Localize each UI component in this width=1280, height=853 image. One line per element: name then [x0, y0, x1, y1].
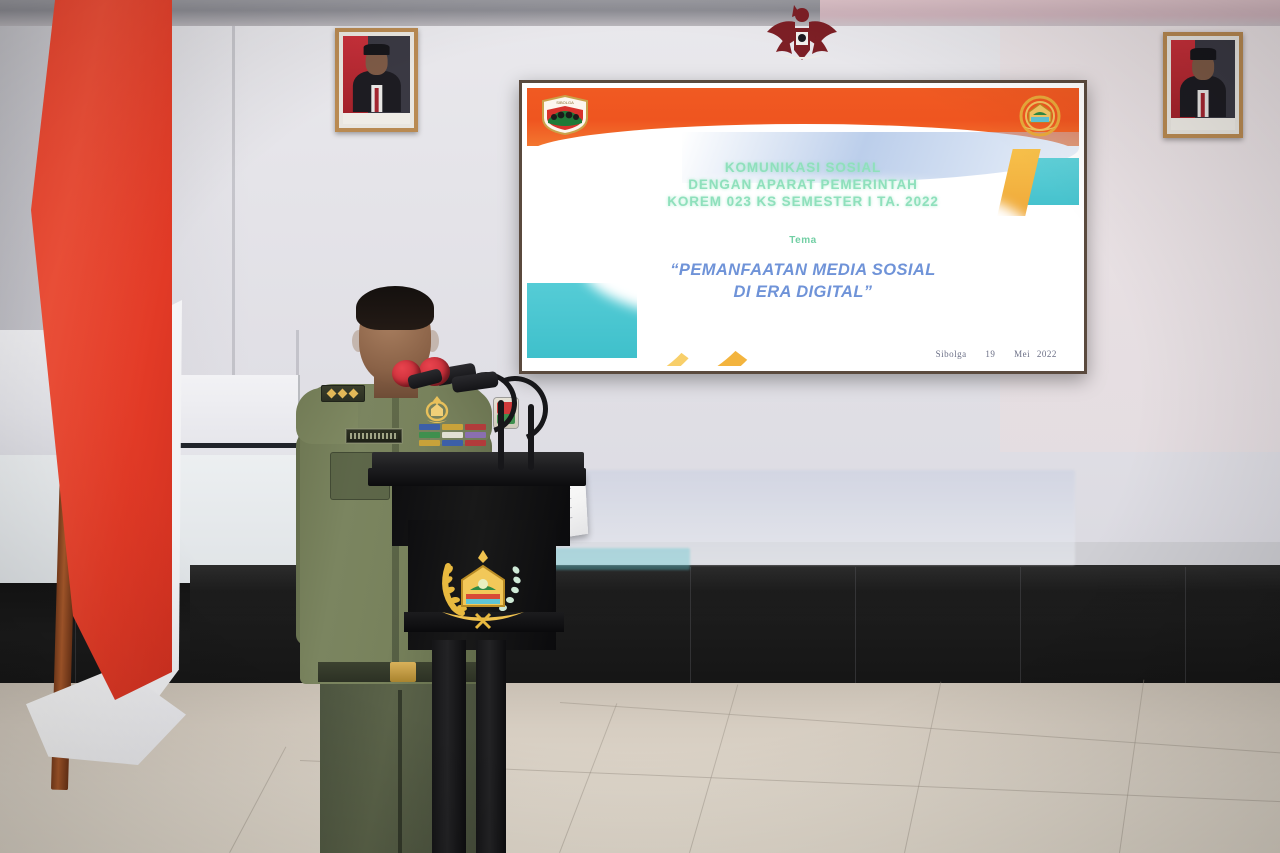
slide-heading: KOMUNIKASI SOSIAL DENGAN APARAT PEMERINT…	[527, 159, 1079, 210]
slide-theme-line2: DI ERA DIGITAL”	[527, 281, 1079, 303]
name-tag	[345, 428, 403, 444]
slide-heading-line3: KOREM 023 KS SEMESTER I TA. 2022	[527, 193, 1079, 210]
svg-text:SIBOLGA: SIBOLGA	[556, 100, 574, 105]
photo-scene: SIBOLGA KOMUNIKASI SOSIAL DENGAN APARAT …	[0, 0, 1280, 853]
panel-edge	[172, 443, 298, 448]
korem-insignia-emblem-icon	[1015, 95, 1065, 137]
slide-footer-day: 19	[985, 349, 995, 359]
president-portrait-frame	[335, 28, 418, 132]
slide-footer: Sibolga 19 Mei 2022	[920, 349, 1057, 359]
slide: SIBOLGA KOMUNIKASI SOSIAL DENGAN APARAT …	[527, 88, 1079, 366]
slide-tema-label: Tema	[527, 235, 1079, 246]
trouser-seam	[398, 690, 402, 853]
slide-footer-place: Sibolga	[936, 349, 967, 359]
tni-podium-emblem-icon	[432, 540, 534, 638]
portrait-mat	[1167, 36, 1239, 134]
portrait-mat	[339, 32, 414, 128]
lectern-column	[432, 640, 466, 853]
projection-screen: SIBOLGA KOMUNIKASI SOSIAL DENGAN APARAT …	[519, 80, 1087, 374]
slide-theme-line1: “PEMANFAATAN MEDIA SOSIAL	[527, 259, 1079, 281]
slide-footer-month: Mei	[1014, 349, 1030, 359]
gold-service-badge-icon	[424, 394, 450, 426]
vice-president-portrait	[1171, 40, 1235, 130]
regional-shield-emblem-icon: SIBOLGA	[539, 94, 591, 136]
president-portrait	[343, 36, 410, 124]
screen-reflection	[540, 548, 690, 570]
lectern-lip	[368, 468, 586, 486]
slide-heading-line2: DENGAN APARAT PEMERINTAH	[527, 176, 1079, 193]
garuda-pancasila-icon	[764, 2, 840, 64]
lectern-column	[476, 640, 506, 853]
slide-theme: “PEMANFAATAN MEDIA SOSIAL DI ERA DIGITAL…	[527, 259, 1079, 303]
slide-footer-year: 2022	[1037, 349, 1057, 359]
officer-hair	[356, 286, 434, 330]
slide-heading-line1: KOMUNIKASI SOSIAL	[527, 159, 1079, 176]
ceiling-light-glow	[820, 0, 1280, 26]
belt-buckle	[390, 662, 416, 682]
shoulder-rank-board-icon	[321, 385, 365, 402]
vice-president-portrait-frame	[1163, 32, 1243, 138]
